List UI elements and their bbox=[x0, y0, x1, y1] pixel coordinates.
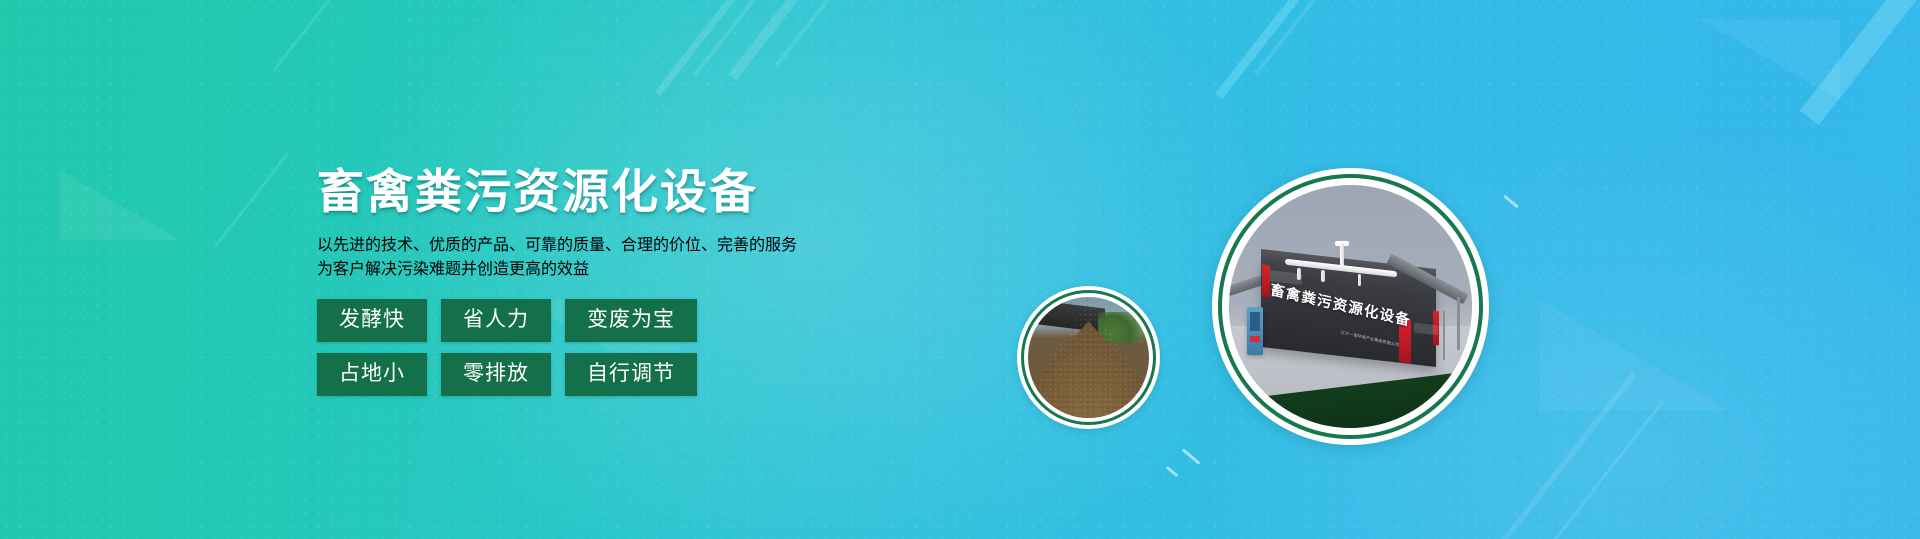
banner-headline: 畜禽粪污资源化设备 bbox=[317, 168, 877, 217]
photo-ring-green: 畜禽粪污资源化设备 辽宁一诺环境产业集团有限公司 bbox=[1218, 174, 1483, 439]
cabinet-button bbox=[1250, 336, 1260, 343]
equipment-photo-image: 畜禽粪污资源化设备 辽宁一诺环境产业集团有限公司 bbox=[1229, 185, 1472, 428]
photo-ring-green bbox=[1021, 290, 1156, 425]
compost-photo-image bbox=[1028, 297, 1149, 418]
equipment-photo-circle[interactable]: 畜禽粪污资源化设备 辽宁一诺环境产业集团有限公司 bbox=[1212, 168, 1489, 445]
vent-pipe-branch bbox=[1297, 268, 1301, 280]
brand-logo-badge bbox=[1414, 322, 1438, 334]
feature-tag-list: 发酵快 省人力 变废为宝 占地小 零排放 自行调节 bbox=[317, 299, 877, 397]
feature-tag-self-adjusting[interactable]: 自行调节 bbox=[565, 353, 697, 396]
compost-photo-circle[interactable] bbox=[1017, 286, 1160, 429]
banner-subtitle-line-2: 为客户解决污染难题并创造更高的效益 bbox=[317, 255, 877, 279]
feature-tag-zero-emission[interactable]: 零排放 bbox=[441, 353, 551, 396]
conveyor-leg bbox=[1443, 311, 1445, 360]
feature-tag-small-footprint[interactable]: 占地小 bbox=[317, 353, 427, 396]
cabinet-screen bbox=[1250, 312, 1260, 330]
feature-tag-fast-fermentation[interactable]: 发酵快 bbox=[317, 299, 427, 342]
vent-pipe-branch bbox=[1358, 274, 1362, 286]
feature-tag-waste-to-treasure[interactable]: 变废为宝 bbox=[565, 299, 697, 342]
vent-pipe-branch bbox=[1321, 270, 1325, 282]
hero-banner: 畜禽粪污资源化设备 以先进的技术、优质的产品、可靠的质量、合理的价位、完善的服务… bbox=[0, 0, 1920, 539]
conveyor-leg bbox=[1457, 297, 1459, 350]
banner-copy-block: 畜禽粪污资源化设备 以先进的技术、优质的产品、可靠的质量、合理的价位、完善的服务… bbox=[317, 168, 877, 396]
red-accent-panel-left bbox=[1262, 265, 1270, 298]
banner-subtitle-line-1: 以先进的技术、优质的产品、可靠的质量、合理的价位、完善的服务 bbox=[317, 231, 877, 255]
control-cabinet bbox=[1247, 307, 1263, 356]
feature-tag-labor-saving[interactable]: 省人力 bbox=[441, 299, 551, 342]
